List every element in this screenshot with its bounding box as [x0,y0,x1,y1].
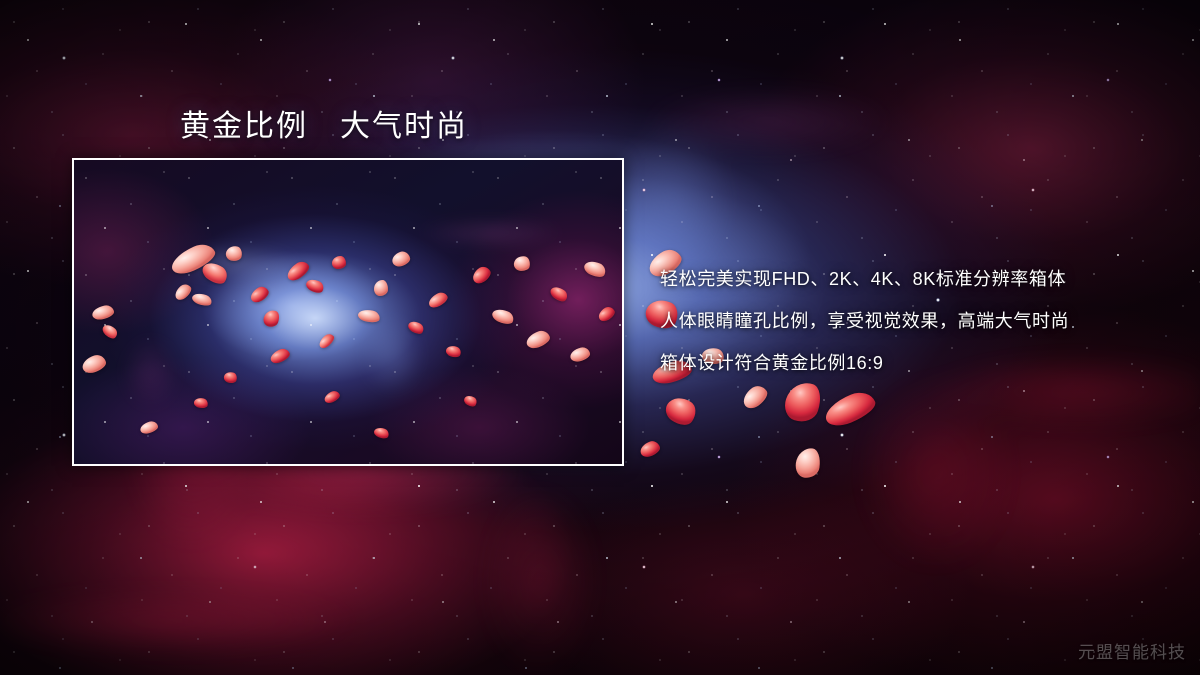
petal-icon [739,382,771,412]
petal-icon [821,387,879,431]
body-line-1: 轻松完美实现FHD、2K、4K、8K标准分辨率箱体 [660,258,1069,300]
galaxy-preview-frame [72,158,624,466]
watermark: 元盟智能科技 [1078,638,1186,663]
slide-canvas: 黄金比例 大气时尚 轻松完美实现FHD、2K、4K、8K标准分辨率箱体 人体眼睛… [0,0,1200,675]
petal-icon [661,392,700,430]
petal-icon [794,446,822,479]
preview-starfield-icon [74,160,622,464]
body-line-2: 人体眼睛瞳孔比例，享受视觉效果，高端大气时尚 [660,300,1069,342]
petal-icon [638,439,662,459]
stage-petal [794,446,822,479]
stage-petal [661,392,700,430]
page-title: 黄金比例 大气时尚 [180,101,468,145]
stage-petal [638,439,662,459]
body-line-3: 箱体设计符合黄金比例16:9 [660,342,1069,384]
stage-petal [781,378,826,427]
preview-image [74,160,622,464]
stage-petal [739,382,771,412]
body-copy: 轻松完美实现FHD、2K、4K、8K标准分辨率箱体 人体眼睛瞳孔比例，享受视觉效… [660,258,1069,384]
petal-icon [781,378,826,427]
stage-petal [821,387,879,431]
